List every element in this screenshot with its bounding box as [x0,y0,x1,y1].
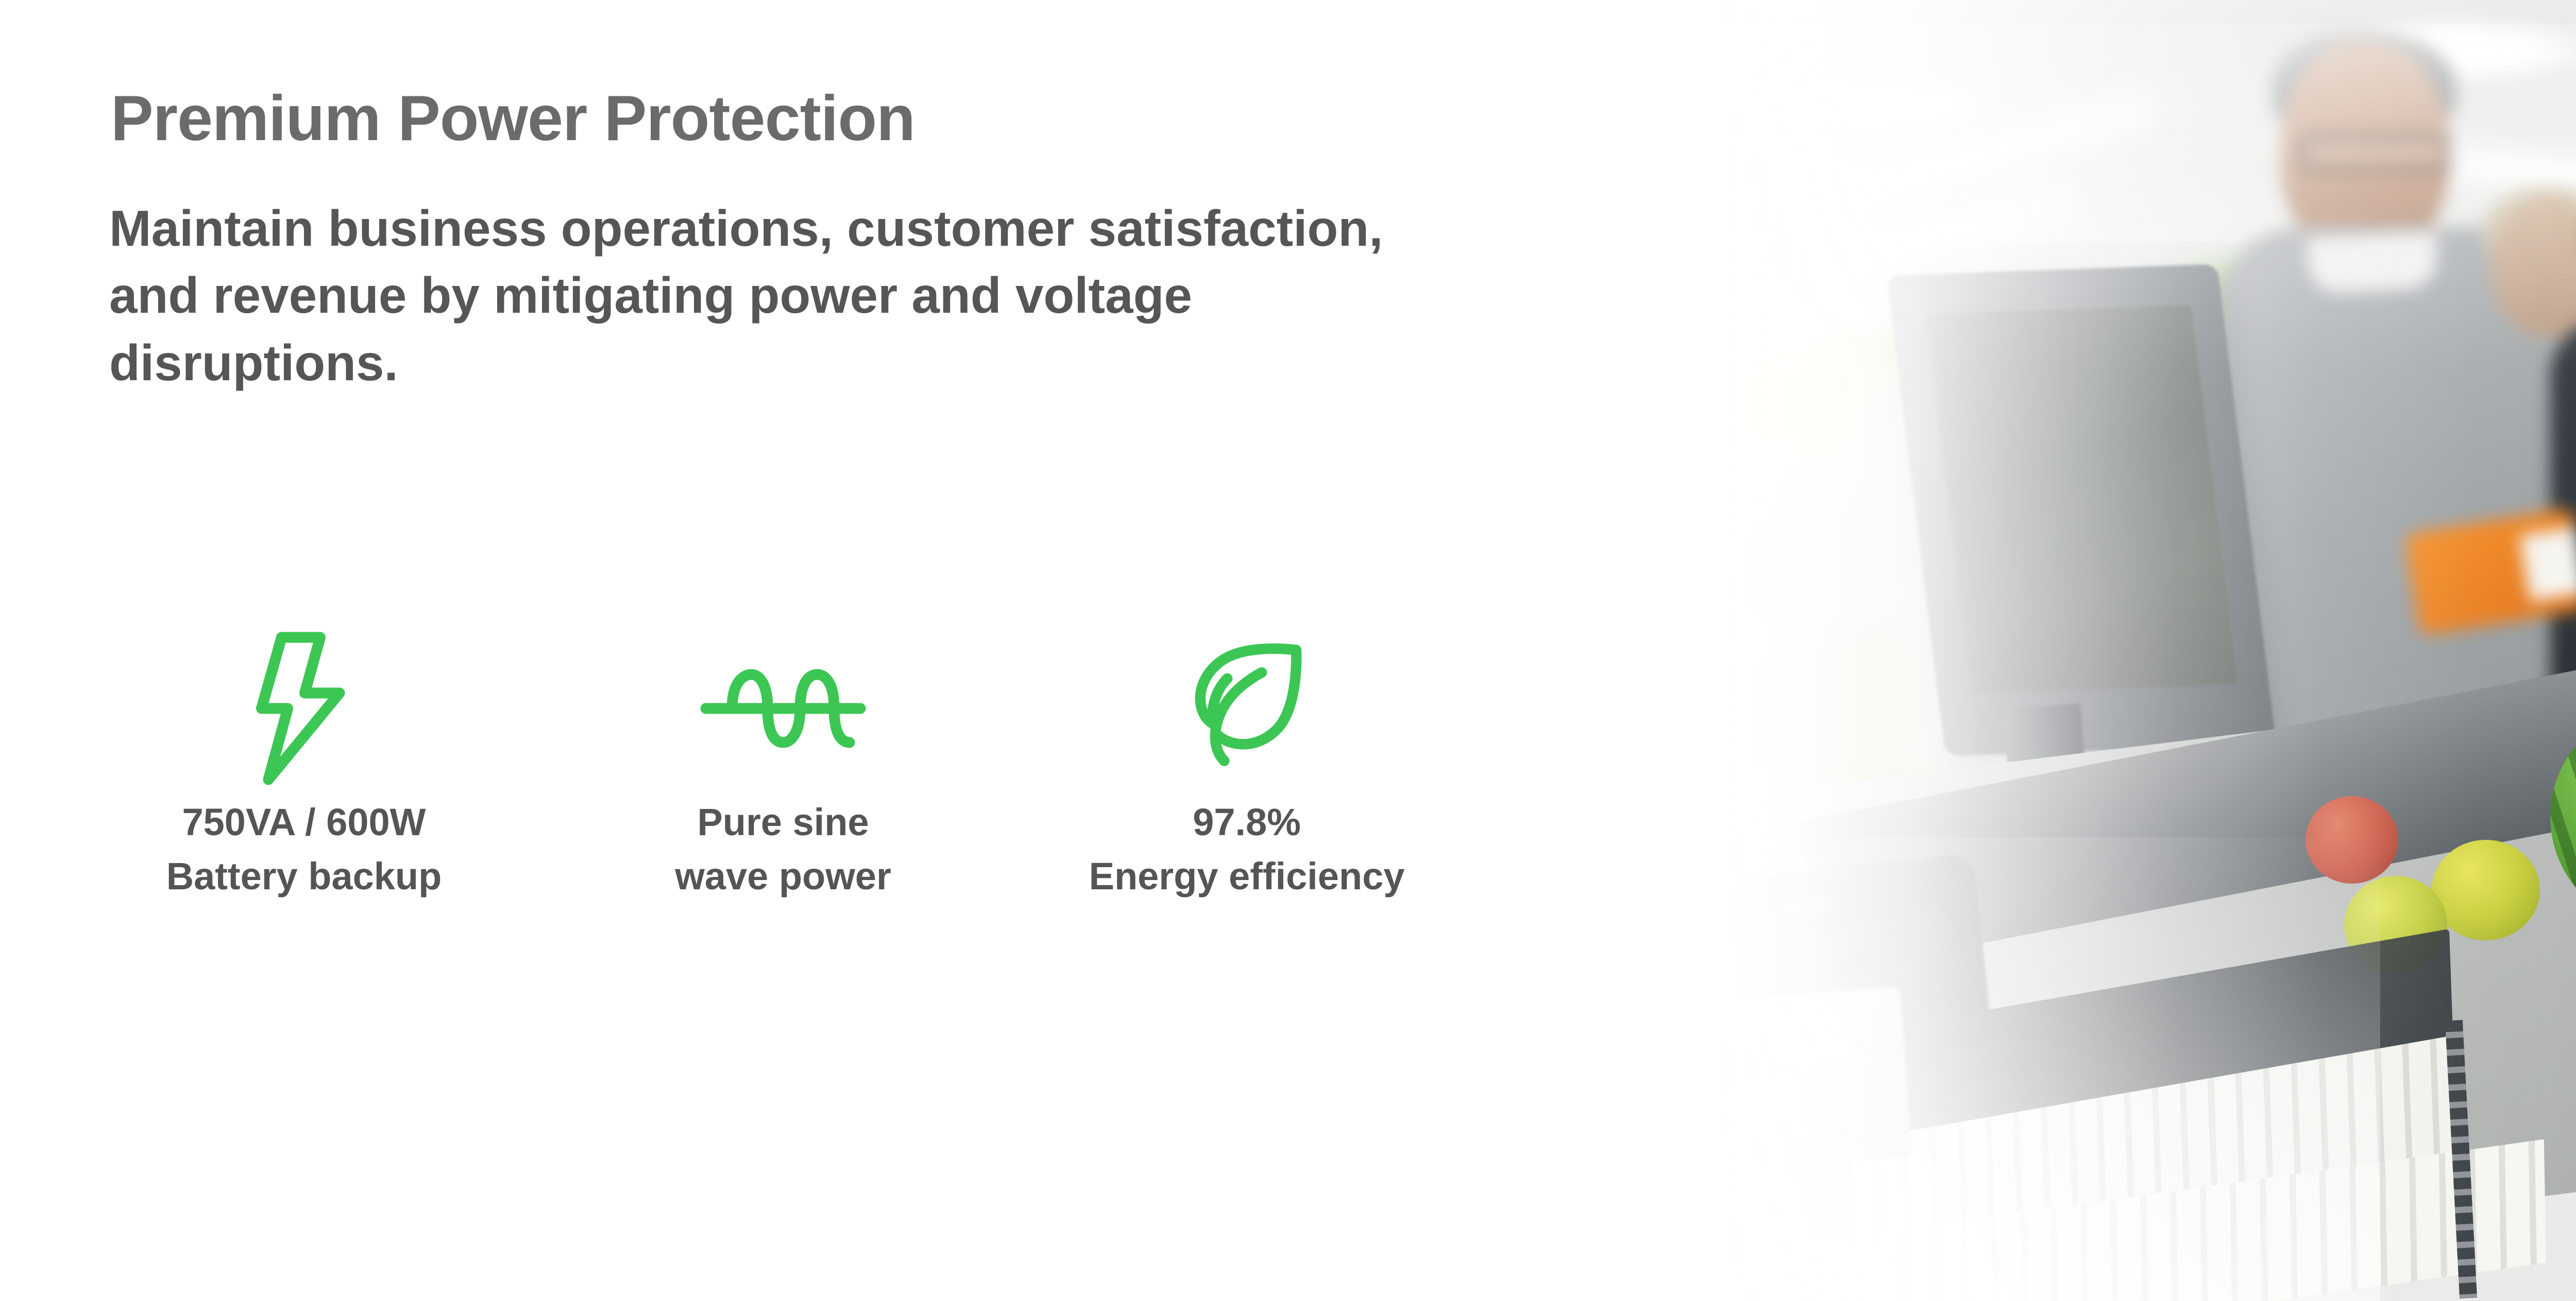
sine-wave-icon [572,631,994,786]
pendant-light [1777,82,1994,130]
feature-item-energy-efficiency: 97.8% Energy efficiency [1036,631,1458,903]
shelf-products [1700,536,1803,603]
lightning-bolt-icon [93,631,515,786]
premium-power-protection-banner: Premium Power Protection Maintain busine… [0,0,2576,1301]
feature-list: 750VA / 600W Battery backup Pure sine wa… [93,631,1515,992]
green-apple [2432,840,2540,940]
pos-monitor-screen [1925,305,2238,694]
grocery-package-label [2520,527,2576,602]
feature-item-pure-sine-wave: Pure sine wave power [572,631,994,903]
yellow-signage [1618,361,1839,453]
feature-caption: 750VA / 600W Battery backup [93,795,515,903]
feature-caption: Pure sine wave power [572,795,994,903]
feature-item-battery-backup: 750VA / 600W Battery backup [93,631,515,903]
ceiling-band [1607,0,2576,24]
customer-glasses [2300,134,2450,172]
red-apple [2306,796,2398,884]
photo-scene [1607,0,2576,1301]
pos-monitor [1887,264,2277,756]
customer-collar [2307,231,2438,295]
hero-photo-supermarket-checkout [1607,0,2576,1301]
leaf-icon [1036,631,1458,786]
content-column: Premium Power Protection Maintain busine… [0,0,1623,1301]
subheading-text: Maintain business operations, customer s… [109,195,1480,396]
feature-caption: 97.8% Energy efficiency [1036,795,1458,903]
page-title: Premium Power Protection [111,87,1502,150]
